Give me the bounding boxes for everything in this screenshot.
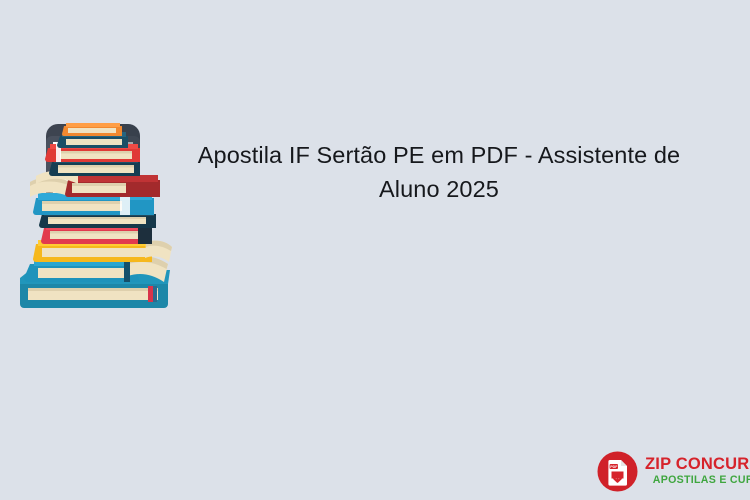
brand-logo[interactable]: PDF ZIP CONCURSOS APOSTILAS E CURSOS <box>597 449 737 493</box>
pdf-download-icon: PDF <box>597 451 638 492</box>
books-tablet-illustration <box>8 118 180 314</box>
book-orange-top <box>62 123 122 136</box>
page-title-text: Apostila IF Sertão PE em PDF - Assistent… <box>186 138 692 206</box>
brand-wordmark: ZIP CONCURSOS APOSTILAS E CURSOS <box>645 456 750 486</box>
brand-tagline: APOSTILAS E CURSOS <box>645 475 750 486</box>
page-root: Apostila IF Sertão PE em PDF - Assistent… <box>0 0 750 500</box>
page-title: Apostila IF Sertão PE em PDF - Assistent… <box>186 138 692 206</box>
book-stack <box>20 123 172 308</box>
book-darkred <box>65 175 160 197</box>
svg-text:PDF: PDF <box>610 465 618 469</box>
brand-name: ZIP CONCURSOS <box>645 456 750 473</box>
